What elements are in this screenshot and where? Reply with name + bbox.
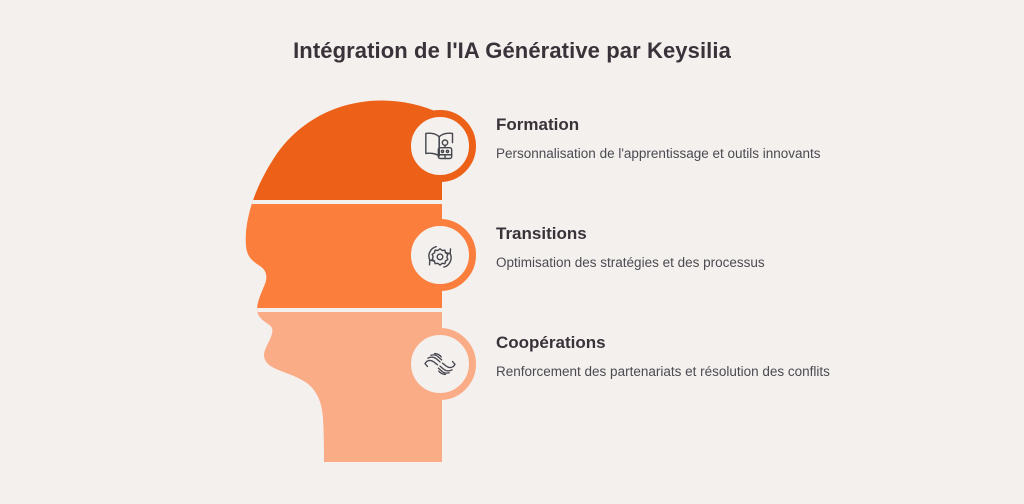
section-cooperations: Coopérations Renforcement des partenaria… [404, 328, 1004, 414]
gear-refresh-icon-badge [404, 219, 476, 291]
infographic-canvas: Intégration de l'IA Générative par Keysi… [0, 0, 1024, 504]
section-cooperations-description: Renforcement des partenariats et résolut… [496, 364, 996, 380]
section-cooperations-heading: Coopérations [496, 334, 996, 353]
page-title: Intégration de l'IA Générative par Keysi… [0, 38, 1024, 64]
handshake-icon-badge [404, 328, 476, 400]
section-transitions-description: Optimisation des stratégies et des proce… [496, 255, 996, 271]
section-cooperations-text: Coopérations Renforcement des partenaria… [496, 334, 996, 380]
section-transitions: Transitions Optimisation des stratégies … [404, 219, 1004, 305]
book-robot-icon-badge [404, 110, 476, 182]
book-robot-icon [420, 126, 460, 166]
handshake-icon [420, 344, 460, 384]
section-formation-text: Formation Personnalisation de l'apprenti… [496, 116, 996, 162]
section-formation-heading: Formation [496, 116, 996, 135]
head-band-divider-1 [212, 200, 502, 204]
head-band-divider-2 [212, 308, 502, 312]
section-transitions-heading: Transitions [496, 225, 996, 244]
section-transitions-text: Transitions Optimisation des stratégies … [496, 225, 996, 271]
section-formation-description: Personnalisation de l'apprentissage et o… [496, 146, 996, 162]
gear-refresh-icon [420, 235, 460, 275]
section-formation: Formation Personnalisation de l'apprenti… [404, 110, 1004, 196]
